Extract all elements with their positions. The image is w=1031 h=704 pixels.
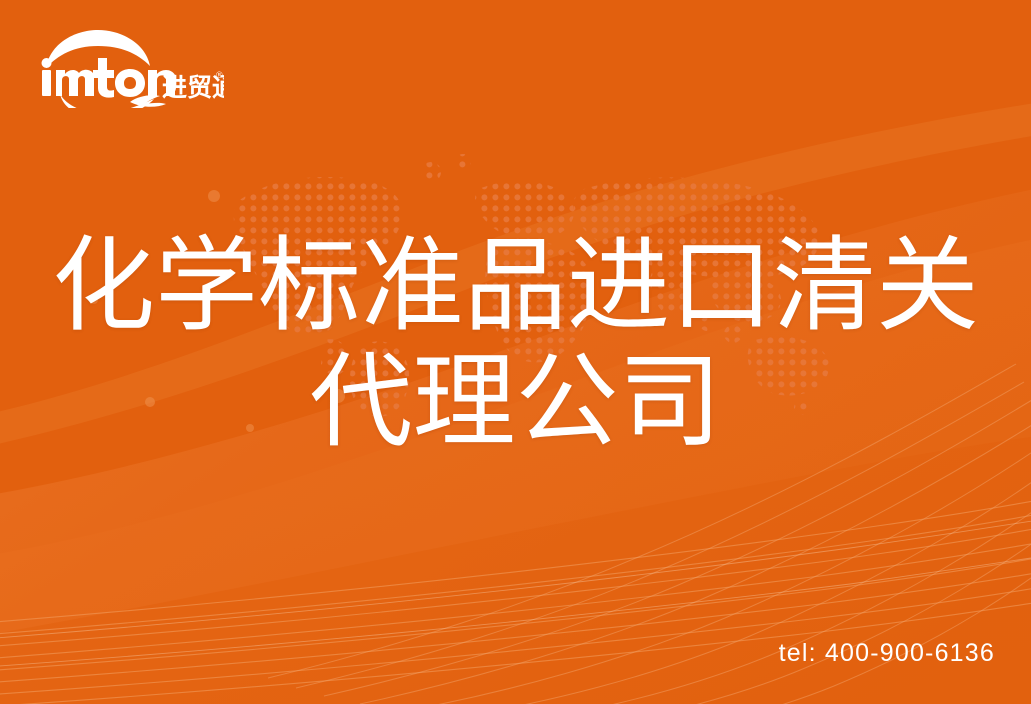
headline-line-1: 化学标准品进口清关: [0, 228, 1031, 344]
headline-line-2: 代理公司: [0, 344, 1031, 460]
promotional-banner: 进贸通 ® 化学标准品进口清关 代理公司 tel: 400-900-6136: [0, 0, 1031, 704]
headline: 化学标准品进口清关 代理公司: [0, 228, 1031, 460]
logo-chinese-text: 进贸通: [162, 74, 224, 102]
contact-phone[interactable]: tel: 400-900-6136: [779, 639, 995, 668]
registered-trademark-icon: ®: [216, 70, 223, 80]
company-logo[interactable]: 进贸通 ®: [34, 24, 224, 108]
